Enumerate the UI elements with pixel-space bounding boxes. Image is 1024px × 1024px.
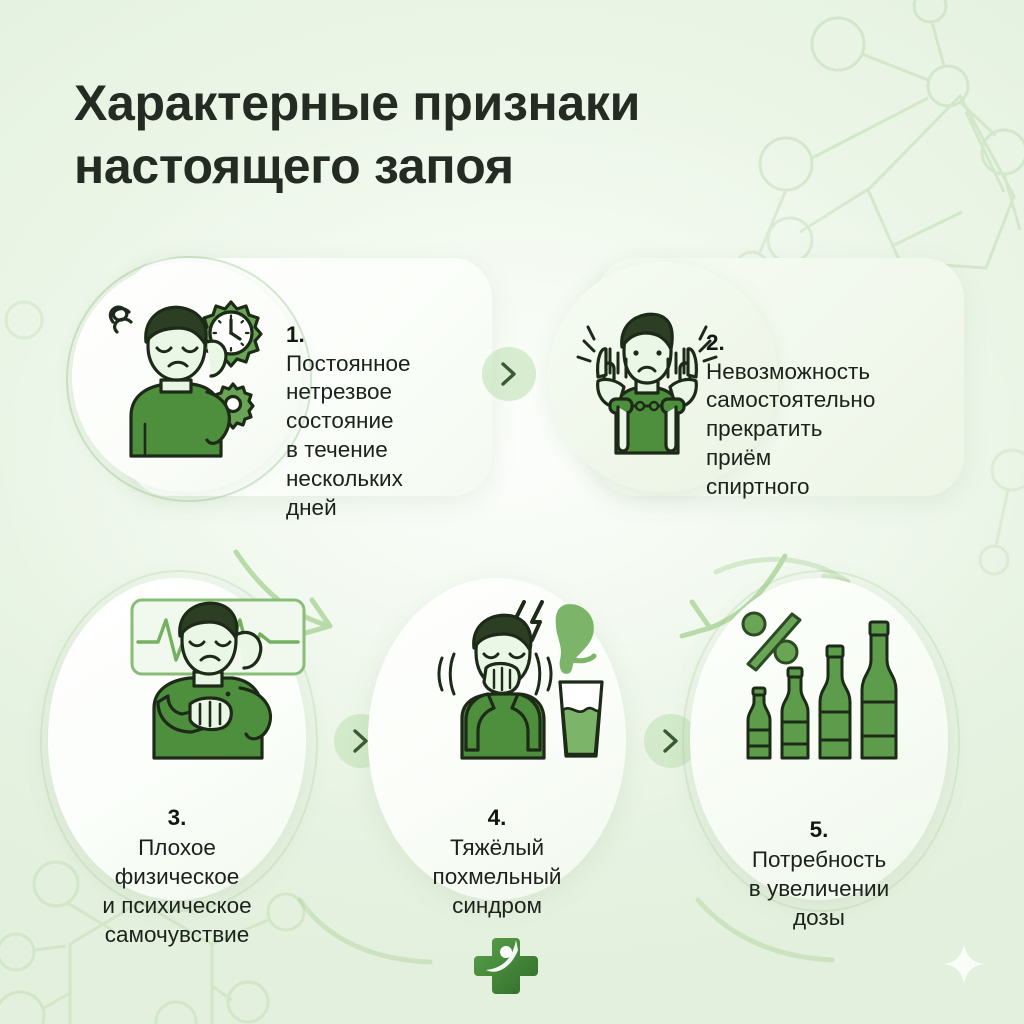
infographic-poster: Характерные признаки настоящего запоя [0, 0, 1024, 1024]
page-title: Характерные признаки настоящего запоя [74, 72, 834, 197]
card-2-text: 2. Невозможность самостоятельно прекрати… [706, 300, 966, 502]
card-2-label: Невозможность самостоятельно прекратить … [706, 359, 875, 499]
card-2-number: 2. [706, 330, 725, 355]
card-4-number: 4. [488, 805, 507, 830]
card-4-text: 4. Тяжёлый похмельный синдром [357, 774, 637, 920]
man-headache-clock-gears-icon [95, 288, 275, 458]
card-4-label: Тяжёлый похмельный синдром [433, 835, 562, 919]
card-5-label: Потребность в увеличении дозы [749, 847, 889, 931]
man-chest-pain-ecg-icon [128, 592, 308, 760]
card-1-label: Постоянное нетрезвое состояние в течение… [286, 351, 411, 520]
medical-cross-person-logo [472, 932, 540, 1000]
card-5-number: 5. [810, 817, 829, 842]
card-1-text: 1. Постоянное нетрезвое состояние в тече… [286, 292, 486, 522]
chevron-right-icon [482, 347, 536, 401]
card-3-text: 3. Плохое физическое и психическое самоч… [37, 774, 317, 950]
man-nausea-stomach-glass-icon [432, 600, 612, 760]
card-3-label: Плохое физическое и психическое самочувс… [102, 835, 251, 948]
sparkle-icon [942, 942, 986, 986]
card-1-number: 1. [286, 322, 305, 347]
card-3-number: 3. [168, 805, 187, 830]
man-handcuffs-raised-hands-icon [572, 295, 722, 455]
percent-growing-bottles-icon [740, 608, 900, 760]
card-5-text: 5. Потребность в увеличении дозы [679, 786, 959, 932]
